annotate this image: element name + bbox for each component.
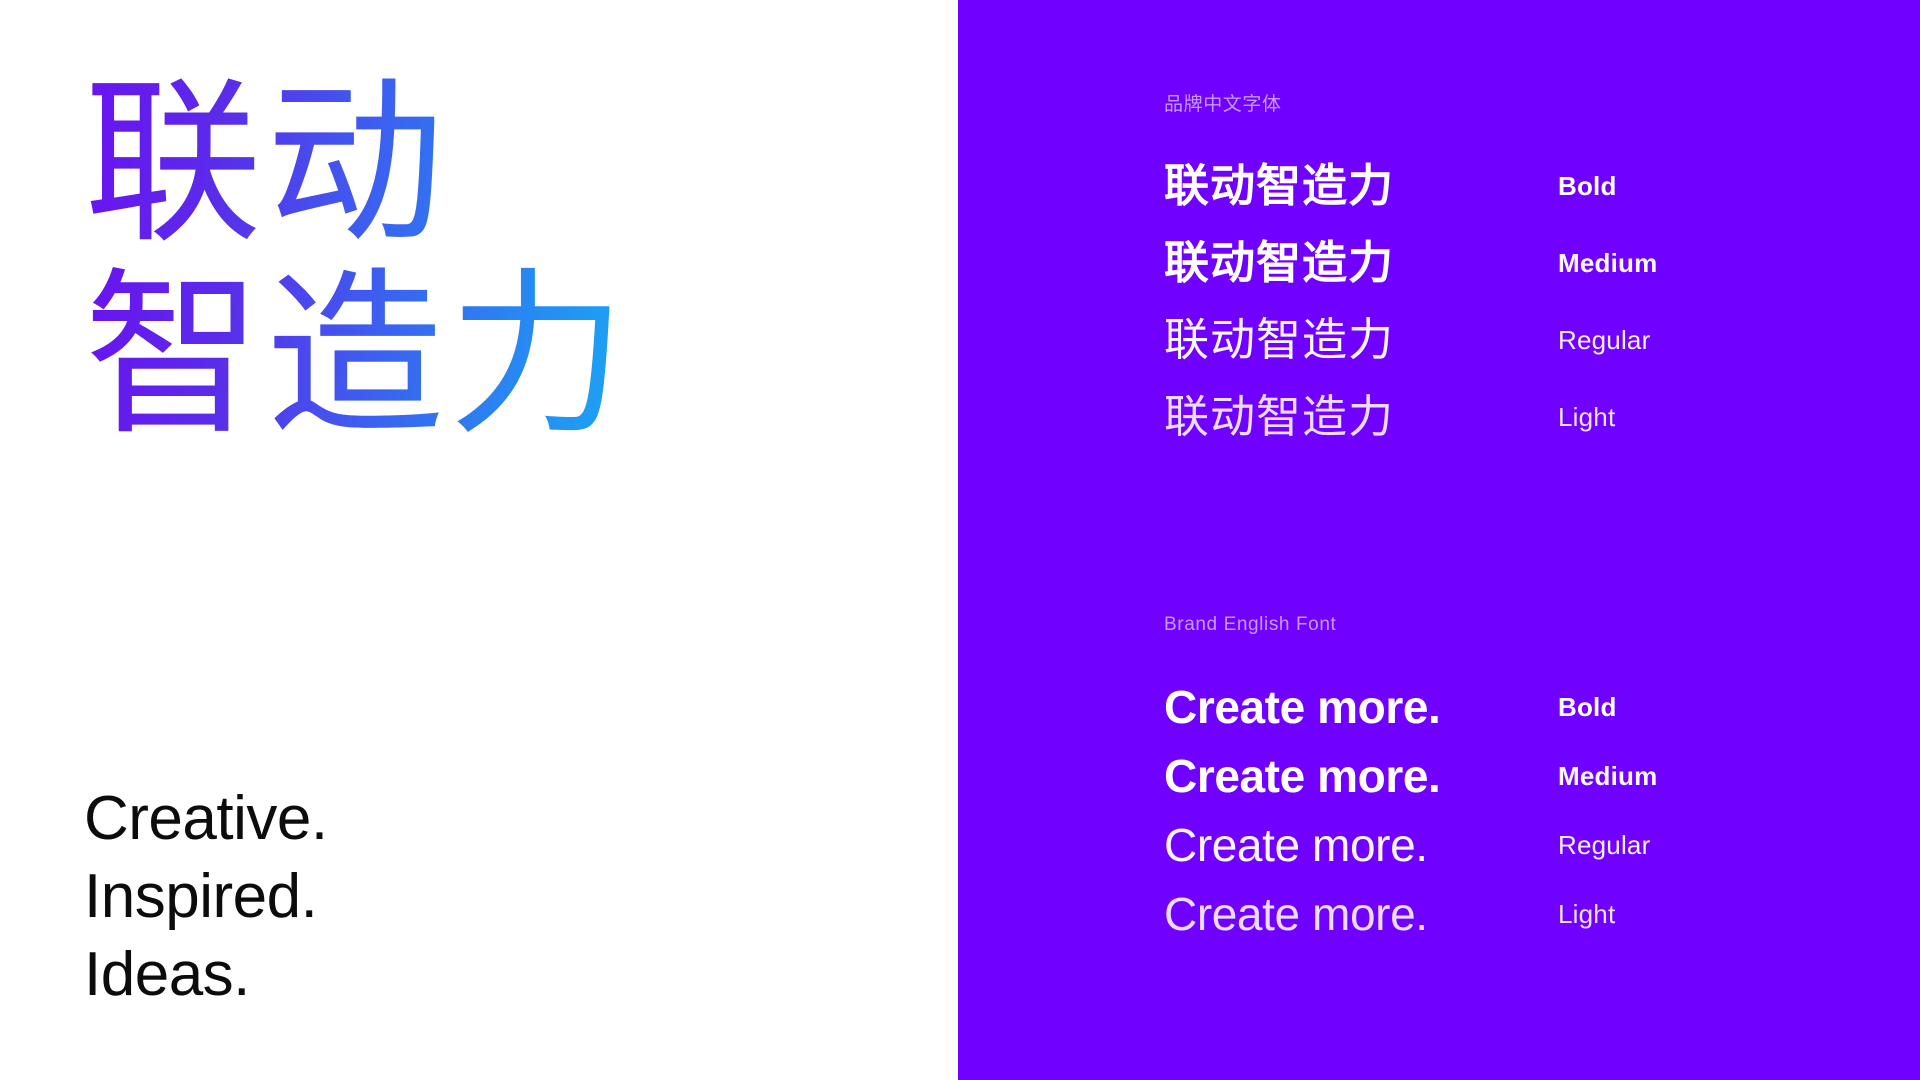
english-sample-regular: Create more. [1164,818,1428,872]
chinese-weight-label-bold: Bold [1558,160,1617,212]
tagline-line-3: Ideas. [84,936,784,1014]
left-showcase-panel: 联动 智造力 Creative. Inspired. Ideas. [0,0,958,1080]
hero-logotype: 联动 智造力 [84,68,844,452]
chinese-sample-light: 联动智造力 [1164,391,1394,443]
english-sample-light: Create more. [1164,887,1428,941]
tagline-line-2: Inspired. [84,858,784,936]
english-weight-label-bold: Bold [1558,680,1617,734]
chinese-weight-label-medium: Medium [1558,237,1657,289]
chinese-sample-medium: 联动智造力 [1164,237,1394,289]
tagline-line-1: Creative. [84,780,784,858]
chinese-font-section-title: 品牌中文字体 [1164,92,1920,118]
chinese-weight-label-regular: Regular [1558,314,1650,366]
typography-style-board: 联动 智造力 Creative. Inspired. Ideas. 品牌中文字体… [0,0,1920,1080]
chinese-weight-label-light: Light [1558,391,1615,443]
english-sample-bold: Create more. [1164,680,1440,734]
chinese-sample-bold: 联动智造力 [1164,160,1394,212]
english-specimen-list: Create more. Bold Create more. Medium Cr… [1164,680,1920,980]
english-weight-label-medium: Medium [1558,749,1657,803]
right-specimen-panel: 品牌中文字体 联动智造力 Bold 联动智造力 Medium 联动智造力 Reg… [958,0,1920,1080]
english-weight-label-regular: Regular [1558,818,1650,872]
english-sample-medium: Create more. [1164,749,1440,803]
english-font-section-title: Brand English Font [1164,612,1920,638]
hero-line-2: 智造力 [84,260,844,452]
chinese-sample-regular: 联动智造力 [1164,314,1394,366]
chinese-specimen-list: 联动智造力 Bold 联动智造力 Medium 联动智造力 Regular 联动… [1164,160,1920,500]
chinese-font-section: 品牌中文字体 联动智造力 Bold 联动智造力 Medium 联动智造力 Reg… [1164,92,1920,500]
hero-line-1: 联动 [84,68,844,260]
english-weight-label-light: Light [1558,887,1615,941]
tagline-block: Creative. Inspired. Ideas. [84,780,784,1014]
english-font-section: Brand English Font Create more. Bold Cre… [1164,612,1920,980]
